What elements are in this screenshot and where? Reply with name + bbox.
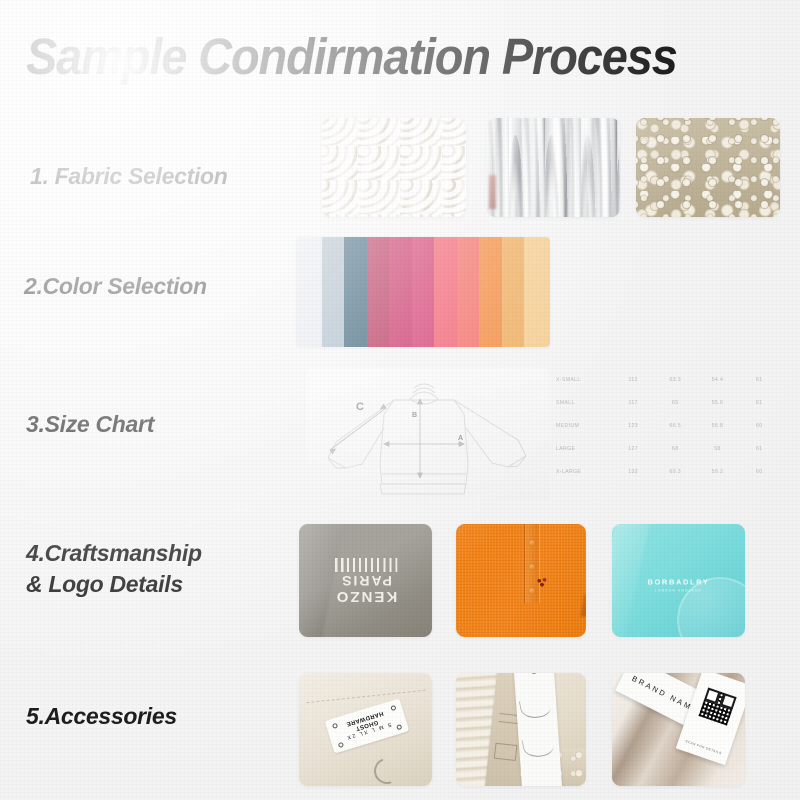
color-swatch-peach[interactable] — [524, 237, 550, 347]
knit-texture-overlay — [322, 118, 466, 217]
brand-print-line-1: BORBADLRY — [647, 578, 709, 587]
dimension-label-c: C — [356, 401, 364, 413]
fabric-swatch-chunky-cable-knit[interactable] — [322, 118, 466, 217]
size-table-cell-measurement: 63.3 — [654, 368, 696, 391]
tag-punch-hole — [532, 673, 537, 674]
embroidered-logo — [535, 576, 549, 588]
care-label-tag: GHOST HARDWARE S M L XL 2X — [325, 698, 410, 753]
color-swatch-rose-red[interactable] — [412, 237, 434, 347]
size-table-cell-measurement: 60 — [739, 460, 780, 483]
step-label-fabric-selection: 1. Fabric Selection — [30, 162, 228, 190]
color-swatch-magenta-pink[interactable] — [389, 237, 411, 347]
size-table-cell-size: SMALL — [556, 391, 612, 414]
size-table-cell-measurement: 58 — [696, 437, 738, 460]
step-label-craftsmanship: 4.Craftsmanship & Logo Details — [26, 538, 202, 600]
color-swatch-salmon[interactable] — [457, 237, 479, 347]
accessory-hang-tags-signature[interactable] — [456, 673, 586, 786]
signature-mark-top — [519, 695, 553, 721]
accessory-qr-hang-tag[interactable]: BRAND NAME SCAN FOR DETAILS — [612, 673, 745, 786]
size-table-cell-measurement: 68 — [654, 437, 696, 460]
step-label-accessories: 5.Accessories — [26, 702, 177, 730]
size-table-cell-measurement: 127 — [612, 437, 654, 460]
size-table-cell-size: X-LARGE — [556, 460, 612, 483]
kenzo-print-rays — [334, 558, 397, 572]
size-table-cell-measurement: 61 — [739, 437, 780, 460]
brand-print-line-2: LONDON ENGLAND — [647, 589, 709, 593]
size-table-cell-measurement: 55.6 — [696, 391, 738, 414]
kenzo-print-line-1: KENZO — [334, 589, 397, 604]
size-table-row: X-LARGE13269.359.260 — [556, 460, 780, 483]
size-table-row: X-SMALL11263.354.461 — [556, 368, 780, 391]
page-title: Sample Condirmation Process — [26, 28, 725, 86]
wave-red-thread — [489, 175, 496, 209]
care-symbol-dry-icon — [396, 724, 402, 730]
color-swatch-orange[interactable] — [479, 237, 501, 347]
size-table-cell-measurement: 117 — [612, 391, 654, 414]
kenzo-print-line-2: PARIS — [334, 574, 397, 588]
size-table-cell-measurement: 60 — [739, 414, 780, 437]
color-swatch-amber[interactable] — [502, 237, 524, 347]
kenzo-print-group: KENZO PARIS — [334, 558, 397, 604]
dimension-label-a: A — [458, 435, 463, 442]
size-table-cell-measurement: 66.5 — [654, 414, 696, 437]
detail-kenzo-paris-print[interactable]: KENZO PARIS — [299, 524, 432, 637]
size-table-cell-measurement: 123 — [612, 414, 654, 437]
fabric-swatch-beige-boucle[interactable] — [636, 118, 780, 217]
size-table-cell-measurement: 56.8 — [696, 414, 738, 437]
accessory-woven-care-label[interactable]: GHOST HARDWARE S M L XL 2X — [299, 673, 432, 786]
size-table-cell-measurement: 59.2 — [696, 460, 738, 483]
color-swatch-pale-lavender[interactable] — [296, 237, 322, 347]
size-table-cell-measurement: 61 — [739, 368, 780, 391]
size-table-cell-size: LARGE — [556, 437, 612, 460]
color-swatch-crimson[interactable] — [367, 237, 389, 347]
step-label-size-chart: 3.Size Chart — [26, 410, 154, 438]
detail-orange-polo-placket[interactable] — [456, 524, 586, 637]
size-chart-panel: A B C X-SMALL11263.354.461SMALL1176555.6… — [306, 368, 780, 500]
size-table-row: MEDIUM12366.556.860 — [556, 414, 780, 437]
boucle-texture-overlay — [636, 118, 780, 217]
sweater-technical-sketch: A B C — [306, 368, 550, 500]
polo-button-bottom — [529, 588, 535, 594]
kraft-tag-line-2 — [499, 721, 519, 724]
size-table-cell-measurement: 132 — [612, 460, 654, 483]
care-symbol-bleach-icon — [338, 742, 344, 748]
size-measurement-table: X-SMALL11263.354.461SMALL1176555.661MEDI… — [556, 368, 780, 483]
color-swatch-strip[interactable] — [296, 237, 550, 347]
hood-seam-stitch — [304, 673, 425, 703]
step-label-color-selection: 2.Color Selection — [24, 272, 207, 300]
pique-weave-overlay — [456, 524, 586, 637]
detail-turquoise-brand-print[interactable]: BORBADLRY LONDON ENGLAND — [612, 524, 745, 637]
dimension-label-b: B — [412, 412, 417, 419]
kraft-tag-box — [494, 743, 518, 761]
wave-highlight-overlay — [487, 118, 620, 217]
garment-seam-highlight — [612, 524, 651, 637]
qr-code-icon — [698, 688, 736, 726]
white-hang-tag — [514, 673, 563, 786]
color-swatch-deep-teal-blue[interactable] — [344, 237, 366, 347]
size-table-cell-size: X-SMALL — [556, 368, 612, 391]
signature-mark-bottom — [522, 734, 556, 760]
brand-print-group: BORBADLRY LONDON ENGLAND — [647, 578, 709, 593]
color-swatch-coral-pink[interactable] — [434, 237, 456, 347]
size-table-row: SMALL1176555.661 — [556, 391, 780, 414]
polo-button-middle — [529, 564, 535, 570]
drawcord — [370, 754, 405, 786]
size-table-cell-measurement: 54.4 — [696, 368, 738, 391]
care-symbol-wash-icon — [332, 723, 338, 729]
size-table-row: LARGE127685861 — [556, 437, 780, 460]
fabric-swatch-grey-wavy-ribbed[interactable] — [487, 118, 620, 217]
care-symbol-iron-icon — [391, 705, 397, 711]
size-table-cell-measurement: 61 — [739, 391, 780, 414]
size-table-cell-measurement: 112 — [612, 368, 654, 391]
size-table-cell-measurement: 65 — [654, 391, 696, 414]
polo-button-top — [529, 540, 535, 546]
size-table-cell-size: MEDIUM — [556, 414, 612, 437]
size-table-cell-measurement: 69.3 — [654, 460, 696, 483]
color-swatch-steel-blue-light[interactable] — [322, 237, 344, 347]
qr-caption: SCAN FOR DETAILS — [684, 739, 722, 755]
